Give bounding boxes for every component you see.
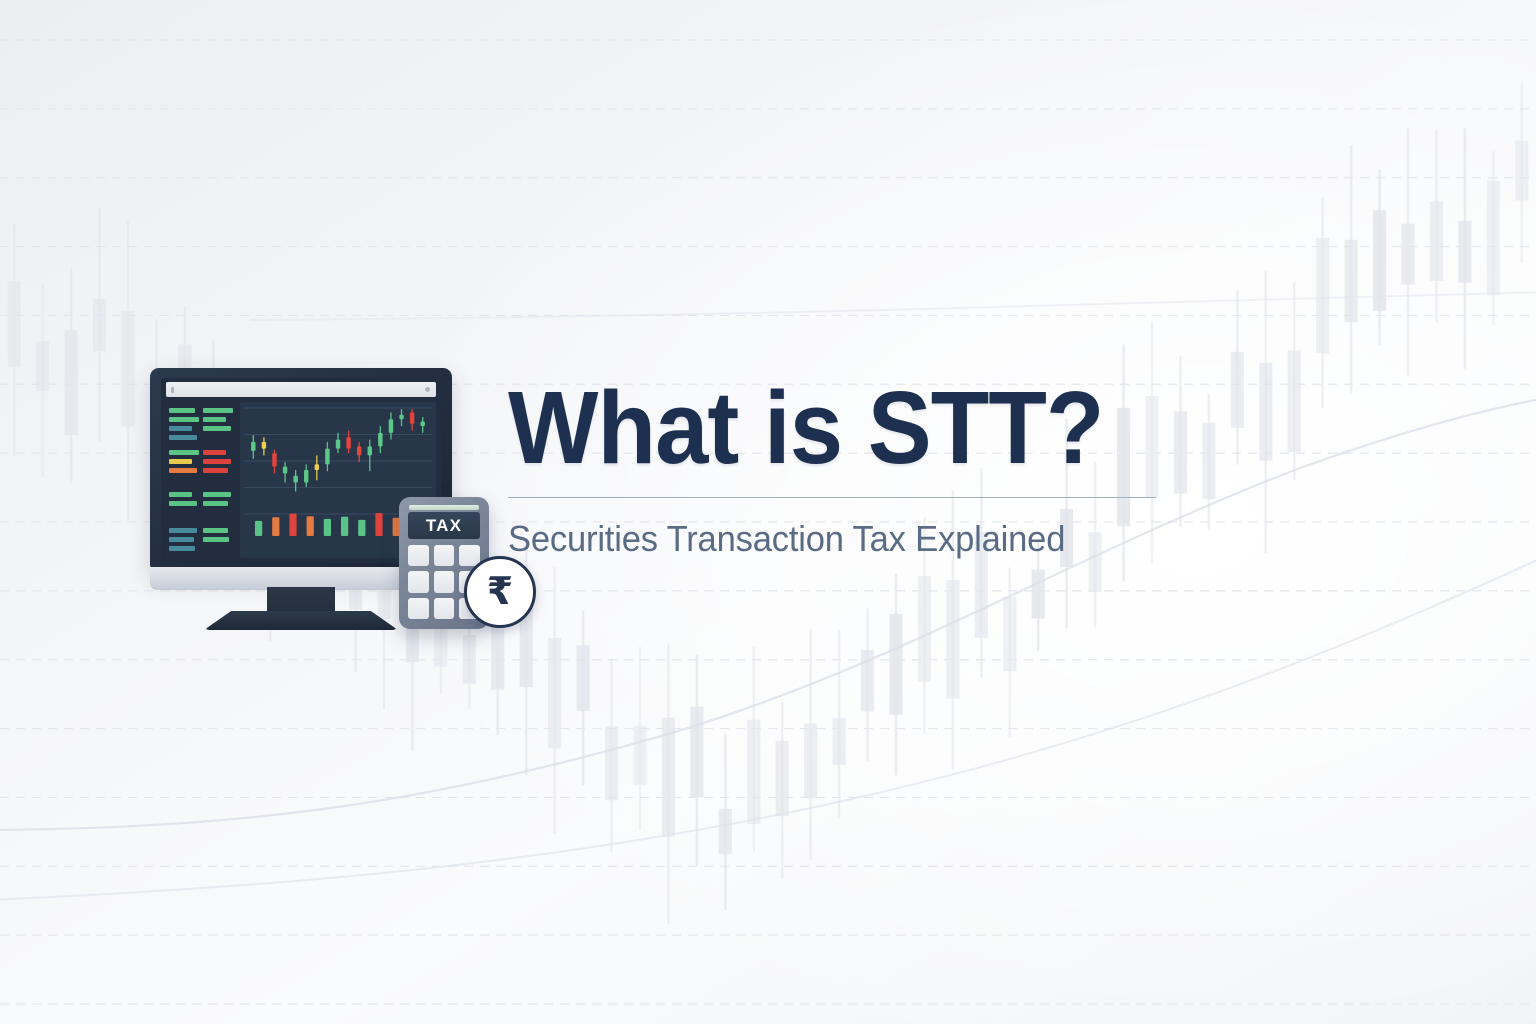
watchlist-row [169, 468, 197, 473]
title-divider [508, 497, 1156, 498]
hero-text-block: What is STT? Securities Transaction Tax … [508, 376, 1168, 559]
watchlist-row [169, 546, 195, 551]
watchlist-row [203, 528, 228, 533]
rupee-symbol: ₹ [487, 572, 513, 610]
calculator-key [408, 571, 429, 592]
calculator-key [434, 598, 455, 619]
watchlist-row [169, 426, 192, 431]
page-subtitle: Securities Transaction Tax Explained [508, 519, 1142, 559]
watchlist-row [169, 492, 192, 497]
hero-banner: TAX ₹ What is STT? Securities Transactio… [0, 0, 1536, 1024]
toolbar-right-marker [425, 387, 430, 392]
watchlist-row [203, 468, 228, 473]
watchlist-row [169, 450, 199, 455]
watchlist-row [169, 537, 194, 542]
watchlist-row [203, 537, 229, 542]
watchlist-row [203, 492, 231, 497]
watchlist-row [203, 408, 233, 413]
watchlist-row [169, 408, 195, 413]
screen-content [166, 402, 436, 558]
watchlist-row [203, 426, 231, 431]
calculator-key [408, 545, 429, 566]
watchlist-row [203, 450, 226, 455]
watchlist-row [203, 417, 226, 422]
calculator-display: TAX [408, 512, 480, 539]
watchlist-row [203, 501, 228, 506]
watchlist-row [169, 528, 197, 533]
toolbar-left-marker [171, 387, 174, 393]
calculator-key [434, 545, 455, 566]
watchlist-row [169, 501, 197, 506]
calculator-key [434, 571, 455, 592]
monitor-base [204, 611, 398, 630]
calculator-top-strip [409, 505, 479, 510]
watchlist-row [169, 417, 199, 422]
watchlist-row [169, 435, 197, 440]
watchlist-row [169, 459, 192, 464]
watchlist-sidebar [166, 402, 234, 558]
calculator-display-text: TAX [426, 516, 462, 536]
watchlist-row [203, 459, 231, 464]
calculator-key [408, 598, 429, 619]
rupee-currency-icon: ₹ [464, 556, 536, 628]
browser-toolbar [166, 382, 436, 397]
page-title: What is STT? [508, 376, 1122, 479]
